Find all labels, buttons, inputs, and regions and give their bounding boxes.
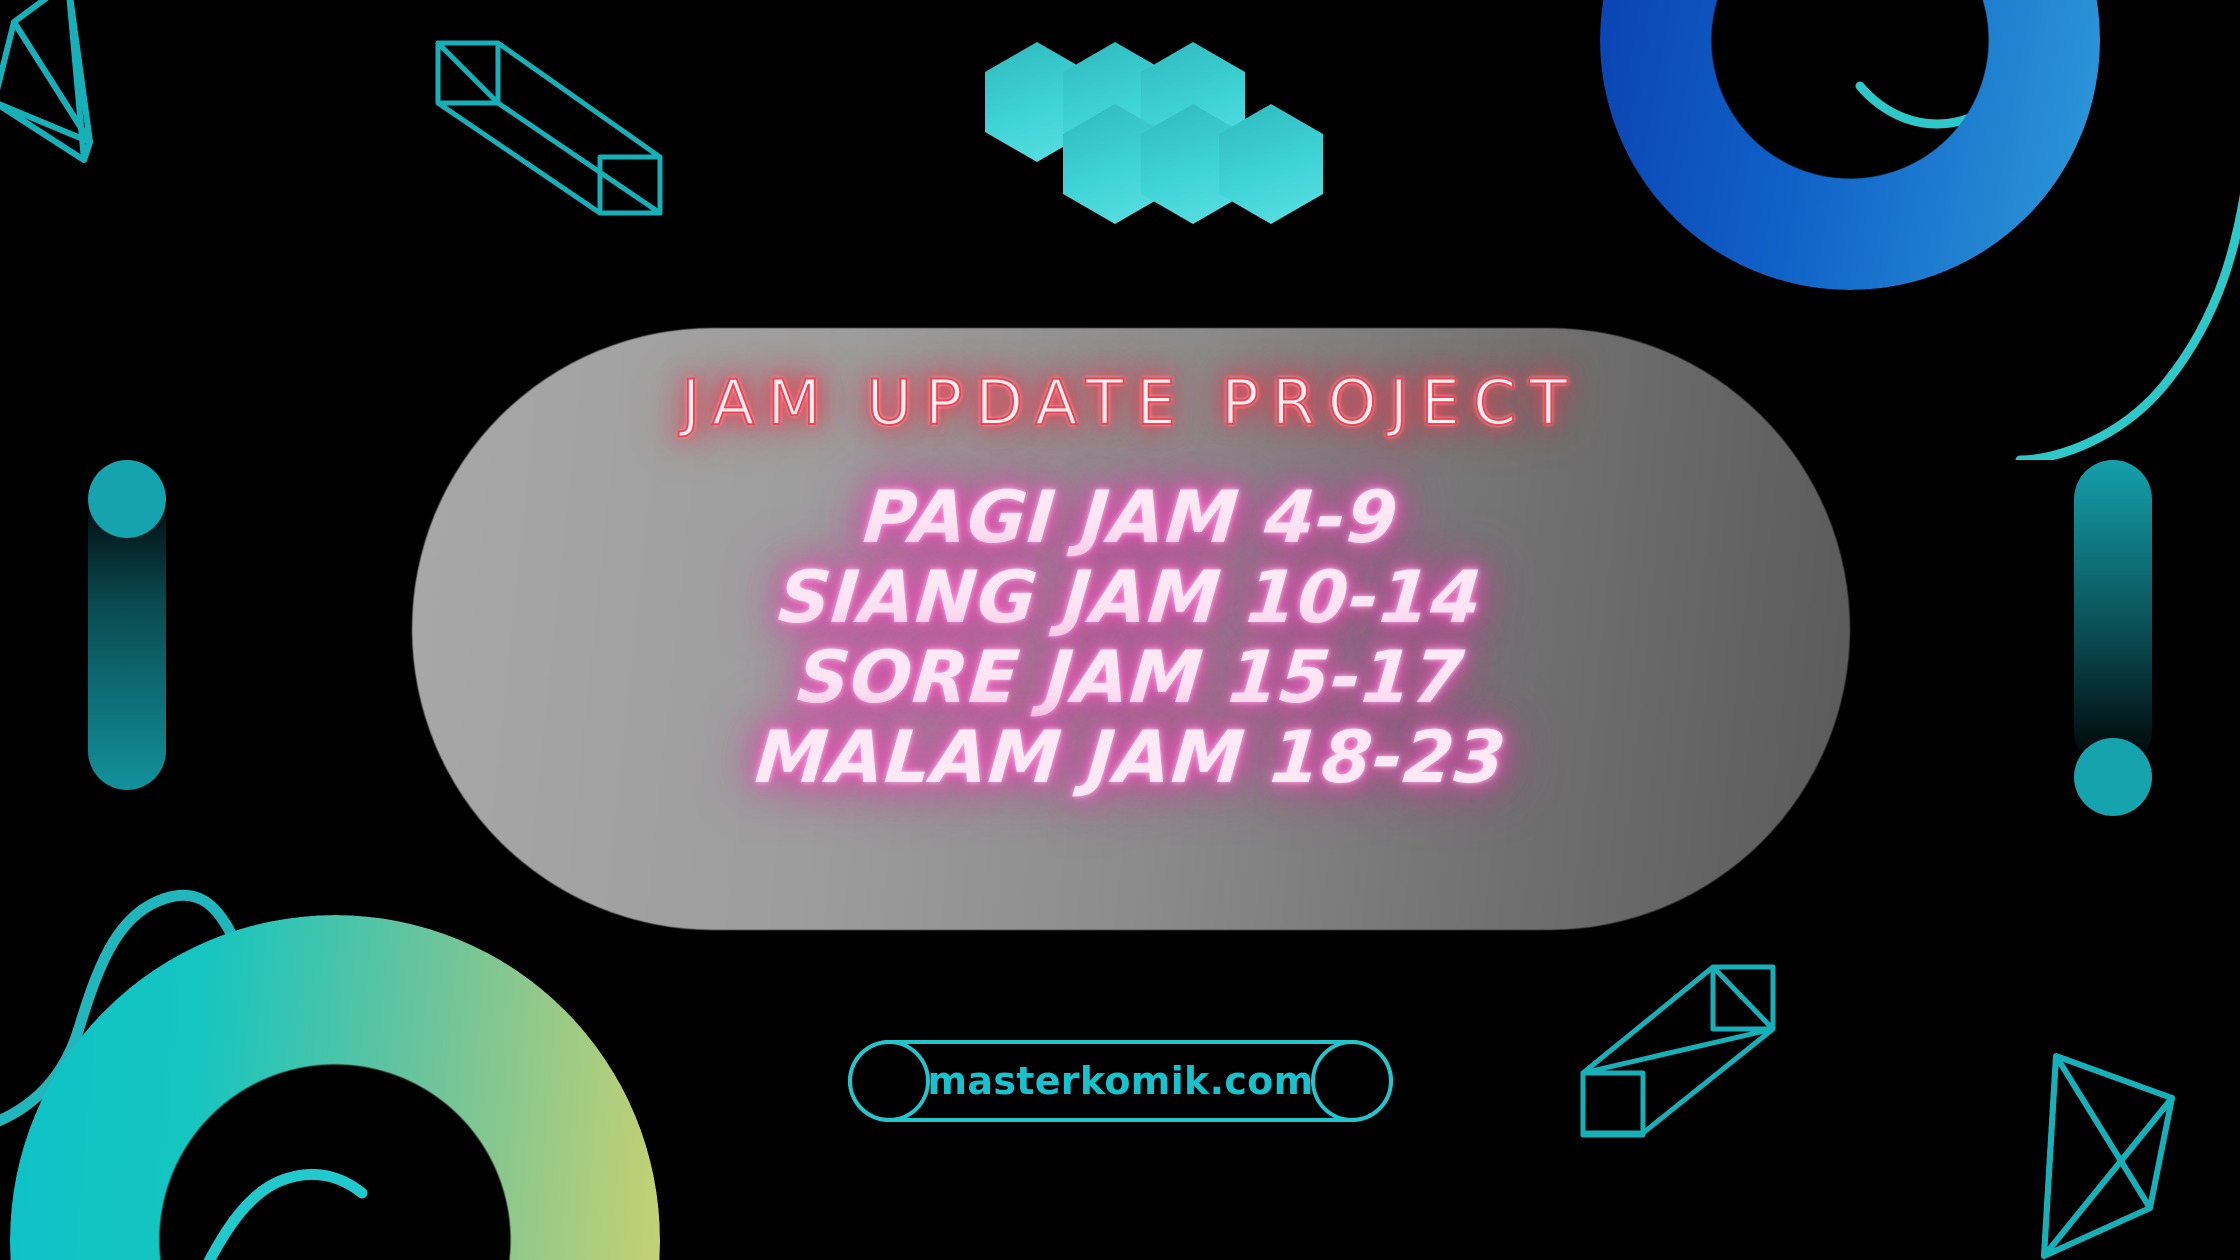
schedule-item-siang: SIANG JAM 10-14 — [776, 561, 1486, 633]
page-title: JAM UPDATE PROJECT — [682, 366, 1580, 439]
website-url-text: masterkomik.com — [928, 1059, 1314, 1103]
hexagon-icon — [1141, 104, 1245, 224]
poster-canvas: JAM UPDATE PROJECT PAGI JAM 4-9 SIANG JA… — [0, 0, 2240, 1260]
url-capsule-right-circle — [1311, 1040, 1393, 1122]
hexagon-cluster — [985, 42, 1285, 207]
green-donut-shape — [10, 915, 660, 1260]
hexagon-icon — [985, 42, 1089, 162]
blue-donut-shape — [1600, 0, 2100, 290]
schedule-list: PAGI JAM 4-9 SIANG JAM 10-14 SORE JAM 15… — [756, 477, 1506, 797]
right-accent-bar — [2074, 460, 2152, 770]
right-accent-dot — [2074, 738, 2152, 816]
hexagon-icon — [1141, 42, 1245, 162]
schedule-item-pagi: PAGI JAM 4-9 — [861, 481, 1401, 553]
website-url-badge[interactable]: masterkomik.com — [848, 1040, 1393, 1122]
wireframe-tetrahedron-top-left — [0, 0, 230, 220]
schedule-item-sore: SORE JAM 15-17 — [795, 641, 1468, 713]
wireframe-tetrahedron-bottom-right — [2030, 1040, 2240, 1260]
hexagon-icon — [1219, 104, 1323, 224]
url-capsule-left-circle — [848, 1040, 930, 1122]
wireframe-box-top-left — [420, 35, 680, 220]
hexagon-icon — [1063, 104, 1167, 224]
schedule-item-malam: MALAM JAM 18-23 — [753, 721, 1509, 793]
hexagon-icon — [1063, 42, 1167, 162]
left-accent-dot — [88, 460, 166, 538]
left-accent-bar — [88, 480, 166, 790]
wireframe-box-bottom-right — [1565, 955, 1845, 1180]
main-card-content: JAM UPDATE PROJECT PAGI JAM 4-9 SIANG JA… — [412, 328, 1850, 930]
